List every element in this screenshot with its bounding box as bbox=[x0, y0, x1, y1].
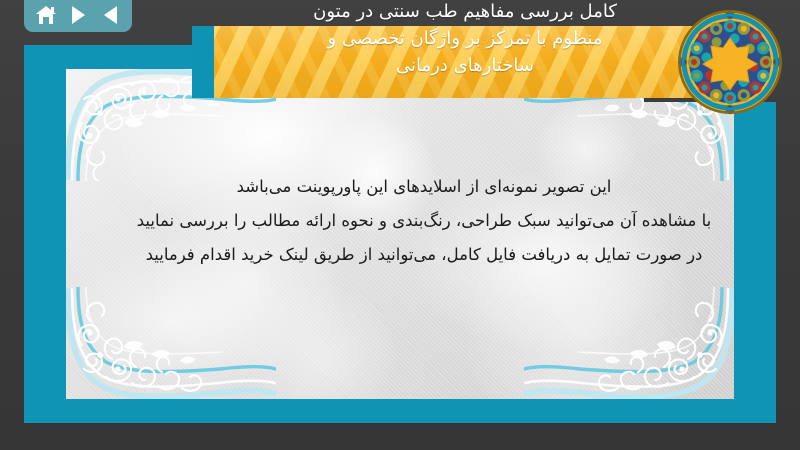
title-line: ساختارهای درمانی bbox=[396, 52, 534, 79]
slide-body-text: این تصویر نمونه‌ای از اسلایدهای این پاور… bbox=[84, 170, 764, 272]
body-line: با مشاهده آن می‌توانید سبک طراحی، رنگ‌بن… bbox=[84, 204, 764, 238]
home-icon bbox=[36, 6, 56, 24]
banner-arrow-tab bbox=[192, 26, 214, 98]
previous-slide-button[interactable] bbox=[97, 3, 123, 27]
body-line: این تصویر نمونه‌ای از اسلایدهای این پاور… bbox=[84, 170, 764, 204]
page-title: کامل بررسی مفاهیم طب سنتی در متون منظوم … bbox=[240, 0, 690, 106]
body-line: در صورت تمایل به دریافت فایل کامل، می‌تو… bbox=[84, 238, 764, 272]
home-button[interactable] bbox=[33, 3, 59, 27]
title-line: منظوم با تمرکز بر واژگان تخصصی و bbox=[327, 25, 602, 52]
triangle-left-icon bbox=[104, 6, 117, 24]
slide-viewer: این تصویر نمونه‌ای از اسلایدهای این پاور… bbox=[0, 0, 800, 450]
title-line: کامل بررسی مفاهیم طب سنتی در متون bbox=[313, 0, 617, 25]
mandala-medallion-ornament bbox=[676, 8, 784, 116]
bokeh-circle bbox=[246, 284, 396, 399]
next-slide-button[interactable] bbox=[65, 3, 91, 27]
slide-navigation-bar bbox=[24, 0, 132, 32]
triangle-right-icon bbox=[72, 6, 85, 24]
